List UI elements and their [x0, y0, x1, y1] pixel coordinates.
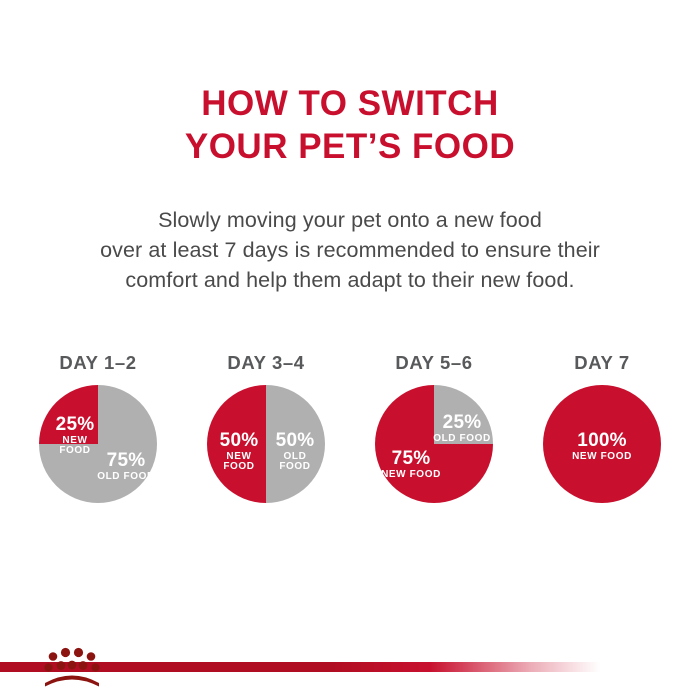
day-label: DAY 7: [574, 352, 629, 374]
page-title: HOW TO SWITCH YOUR PET’S FOOD: [0, 82, 700, 168]
subtitle-line-1: Slowly moving your pet onto a new food: [0, 205, 700, 235]
pie-disc: [543, 385, 661, 503]
page-title-line-1: HOW TO SWITCH: [0, 82, 700, 125]
pie-graphic: 100% NEW FOOD: [543, 385, 661, 503]
subtitle-line-3: comfort and help them adapt to their new…: [0, 265, 700, 295]
subtitle-line-2: over at least 7 days is recommended to e…: [0, 235, 700, 265]
royal-canin-crown-emblem-icon: [38, 640, 106, 692]
pie-chart-day-1-2: DAY 1–2 25% NEW FOOD 75% OLD FOOD: [14, 352, 182, 503]
pie-chart-day-5-6: DAY 5–6 25% OLD FOOD 75% NEW FOOD: [350, 352, 518, 503]
day-label: DAY 3–4: [227, 352, 304, 374]
pie-disc: [375, 385, 493, 503]
pie-disc: [207, 385, 325, 503]
pie-graphic: 25% OLD FOOD 75% NEW FOOD: [375, 385, 493, 503]
day-label: DAY 5–6: [395, 352, 472, 374]
pie-graphic: 25% NEW FOOD 75% OLD FOOD: [39, 385, 157, 503]
pie-graphic: 50% NEW FOOD 50% OLD FOOD: [207, 385, 325, 503]
pie-chart-row: DAY 1–2 25% NEW FOOD 75% OLD FOOD DAY 3–…: [0, 352, 700, 503]
subtitle: Slowly moving your pet onto a new food o…: [0, 205, 700, 295]
pie-disc: [39, 385, 157, 503]
day-label: DAY 1–2: [59, 352, 136, 374]
pie-chart-day-7: DAY 7 100% NEW FOOD: [518, 352, 686, 503]
page-title-line-2: YOUR PET’S FOOD: [0, 125, 700, 168]
pie-chart-day-3-4: DAY 3–4 50% NEW FOOD 50% OLD FOOD: [182, 352, 350, 503]
footer: [0, 640, 700, 700]
